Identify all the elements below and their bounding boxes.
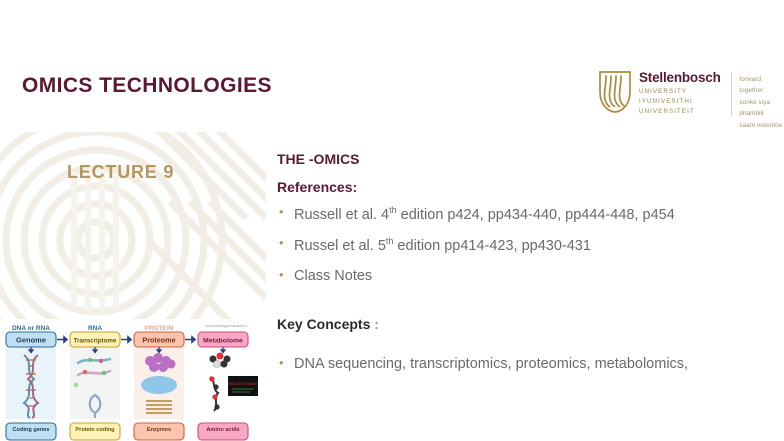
list-item: Russel et al. 5th edition pp414-423, pp4… bbox=[277, 237, 777, 253]
topic-heading: THE -OMICS bbox=[277, 152, 777, 166]
svg-text:BIOLOGY EXAMS: BIOLOGY EXAMS bbox=[228, 382, 258, 386]
references-heading: References: bbox=[277, 180, 777, 194]
stage-bottom-label-0: Coding genes bbox=[13, 427, 50, 433]
list-item-text: Class Notes bbox=[294, 268, 372, 284]
references-list: Russell et al. 4th edition p424, pp434-4… bbox=[277, 206, 777, 283]
logo-wordmark: Stellenbosch UNIVERSITY IYUNIVESITHI UNI… bbox=[639, 70, 721, 117]
list-item: Class Notes bbox=[277, 269, 777, 284]
list-item: Russell et al. 4th edition p424, pp434-4… bbox=[277, 206, 777, 222]
figure-source-url: www.biologyexams4u.c... bbox=[206, 323, 251, 328]
stage-box-label-3: Metabolome bbox=[203, 338, 243, 345]
stellenbosch-logo: Stellenbosch UNIVERSITY IYUNIVESITHI UNI… bbox=[598, 70, 784, 122]
logo-motto-afrikaans: saam vorentoe bbox=[739, 120, 784, 131]
list-item-text: Russel et al. 5 bbox=[294, 238, 386, 254]
omics-flow-graphic: DNA or RNA RNA PROTEIN www.biologyexams4… bbox=[0, 319, 263, 441]
logo-sub-xhosa: IYUNIVESITHI bbox=[639, 97, 721, 107]
logo-motto: forward together sonke siya phambili saa… bbox=[739, 70, 784, 131]
stage-box-label-2: Proteome bbox=[142, 336, 175, 345]
logo-sub-afrikaans: UNIVERSITEIT bbox=[639, 107, 721, 117]
slide-content: THE -OMICS References: Russell et al. 4t… bbox=[277, 152, 777, 387]
stage-box-label-1: Transcriptome bbox=[74, 338, 117, 345]
logo-university-name: Stellenbosch bbox=[639, 71, 721, 85]
lecture-number-label: LECTURE 9 bbox=[67, 162, 174, 183]
list-item: DNA sequencing, transcriptomics, proteom… bbox=[277, 357, 777, 372]
page-title: OMICS TECHNOLOGIES bbox=[22, 74, 272, 98]
stage-top-label-1: RNA bbox=[88, 325, 102, 332]
key-concepts-heading-text: Key Concepts bbox=[277, 316, 374, 332]
omics-flow-diagram: DNA or RNA RNA PROTEIN www.biologyexams4… bbox=[0, 319, 263, 441]
logo-divider bbox=[731, 72, 732, 116]
slide-canvas: OMICS TECHNOLOGIES Stellenbosch UNIVERSI… bbox=[0, 0, 784, 441]
key-concepts-list: DNA sequencing, transcriptomics, proteom… bbox=[277, 357, 777, 372]
stage-box-label-0: Genome bbox=[16, 336, 46, 345]
stage-top-label-0: DNA or RNA bbox=[12, 325, 50, 332]
list-item-text-tail: edition p424, pp434-440, pp444-448, p454 bbox=[397, 207, 675, 223]
key-concepts-heading: Key Concepts : bbox=[277, 317, 777, 331]
key-concepts-colon: : bbox=[374, 316, 379, 332]
stellenbosch-shield-icon bbox=[598, 70, 632, 114]
list-item-text-tail: edition pp414-423, pp430-431 bbox=[393, 238, 591, 254]
stage-top-label-2: PROTEIN bbox=[145, 325, 174, 332]
logo-sub-english: UNIVERSITY bbox=[639, 87, 721, 97]
list-item-text: Russell et al. 4 bbox=[294, 207, 389, 223]
list-item-text: DNA sequencing, transcriptomics, proteom… bbox=[294, 356, 688, 372]
stage-bottom-label-2: Enzymes bbox=[147, 427, 171, 433]
list-item-superscript: th bbox=[389, 205, 397, 215]
logo-motto-xhosa: sonke siya phambili bbox=[739, 97, 784, 120]
key-concepts-block: Key Concepts : DNA sequencing, transcrip… bbox=[277, 317, 777, 372]
logo-motto-english: forward together bbox=[739, 74, 784, 97]
stage-bottom-label-3: Amino acids bbox=[206, 427, 239, 433]
stage-bottom-label-1: Protein coding bbox=[75, 427, 115, 433]
